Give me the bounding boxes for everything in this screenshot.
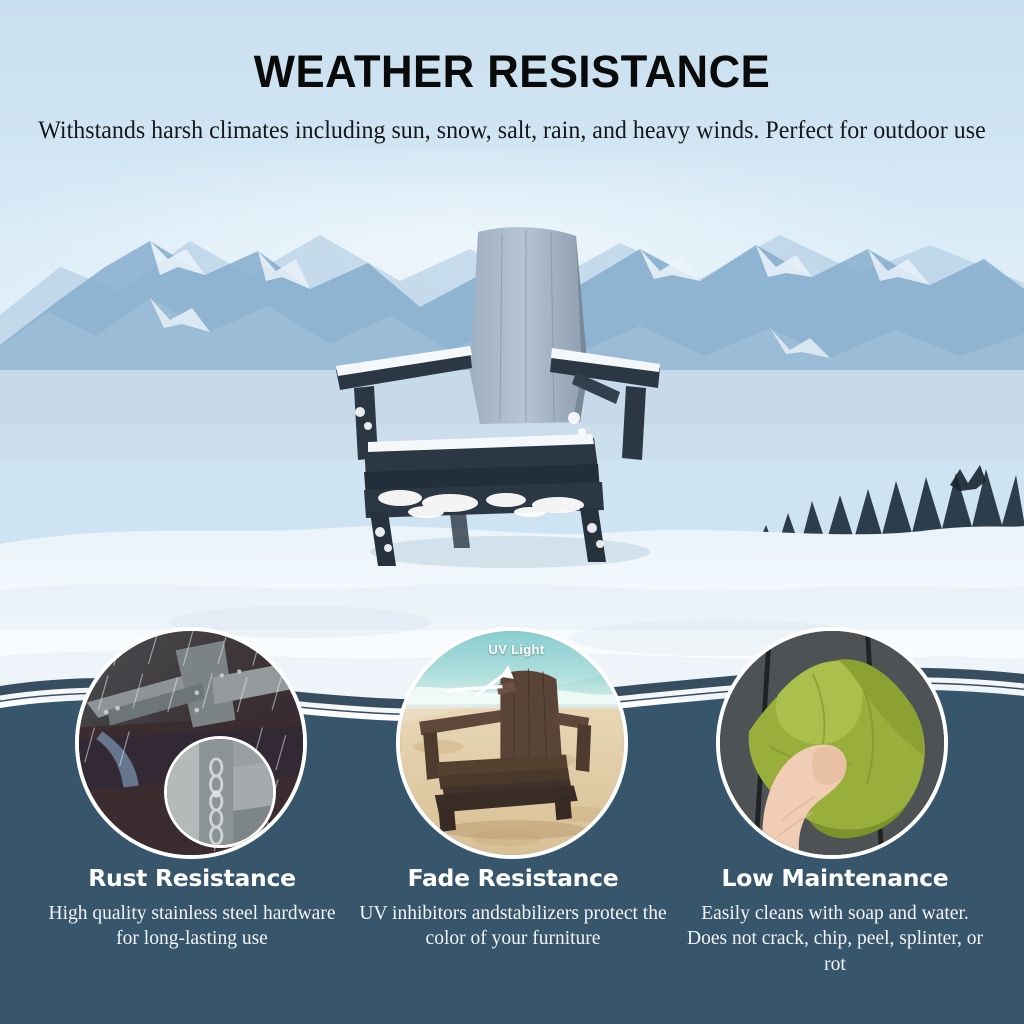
- feature-caption-rust-resistance: Rust Resistance High quality stainless s…: [37, 866, 347, 952]
- page-subtitle: Withstands harsh climates including sun,…: [31, 112, 994, 148]
- hero-snow-covered-chair: [330, 222, 680, 572]
- hand-wiping-cloth-image: [720, 631, 944, 855]
- infographic-canvas: WEATHER RESISTANCE Withstands harsh clim…: [0, 0, 1024, 1024]
- feature-body-low-maintenance: Easily cleans with soap and water. Does …: [680, 901, 990, 978]
- feature-body-fade-resistance: UV inhibitors andstabilizers protect the…: [358, 901, 668, 952]
- feature-image-fade-resistance[interactable]: UV Light: [396, 627, 628, 859]
- feature-title-rust-resistance: Rust Resistance: [37, 866, 347, 892]
- feature-title-fade-resistance: Fade Resistance: [358, 866, 668, 892]
- uv-light-label: UV Light: [489, 642, 545, 657]
- feature-body-rust-resistance: High quality stainless steel hardware fo…: [37, 901, 347, 952]
- header-block: WEATHER RESISTANCE Withstands harsh clim…: [0, 48, 1024, 148]
- stainless-steel-hardware-inset: [164, 736, 276, 848]
- feature-caption-fade-resistance: Fade Resistance UV inhibitors andstabili…: [358, 866, 668, 952]
- page-title: WEATHER RESISTANCE: [15, 48, 1008, 95]
- feature-image-rust-resistance[interactable]: [75, 627, 307, 859]
- feature-caption-low-maintenance: Low Maintenance Easily cleans with soap …: [680, 866, 990, 977]
- feature-title-low-maintenance: Low Maintenance: [680, 866, 990, 892]
- bolt-detail-image: [167, 739, 273, 845]
- uv-light-annotation: UV Light: [400, 635, 624, 715]
- feature-image-low-maintenance[interactable]: [716, 627, 948, 859]
